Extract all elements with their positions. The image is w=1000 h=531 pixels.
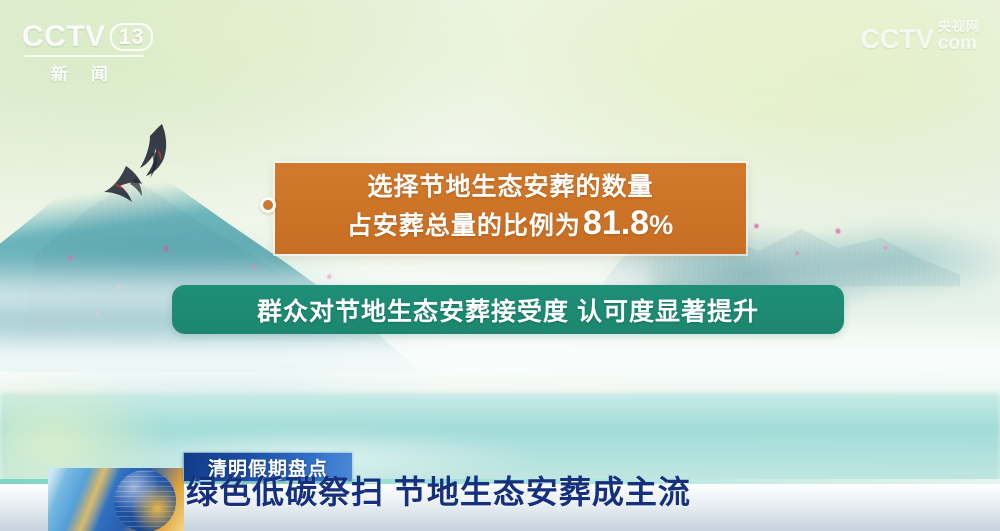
statement-banner-text: 群众对节地生态安葬接受度 认可度显著提升 xyxy=(257,292,759,328)
logo-divider xyxy=(24,55,144,57)
statistic-line-2-prefix: 占安葬总量的比例为 xyxy=(347,212,581,241)
statement-banner: 群众对节地生态安葬接受度 认可度显著提升 xyxy=(172,285,844,334)
swallows-icon xyxy=(96,112,224,220)
cctv13-news-logo: CCTV 13 新 闻 xyxy=(22,22,172,78)
watermark-cctv-text: CCTV xyxy=(860,26,934,53)
logo-top-row: CCTV 13 xyxy=(22,22,172,52)
broadcast-frame: CCTV 13 新 闻 CCTV 央视网 com 选择节地生态安葬的数量 占安葬… xyxy=(0,0,1000,531)
lower-third: 清明假期盘点 绿色低碳祭扫 节地生态安葬成主流 xyxy=(0,448,1000,531)
watermark-com-text: com xyxy=(938,34,980,53)
watermark-side: 央视网 com xyxy=(938,20,980,53)
statistic-line-2: 占安葬总量的比例为 81.8 % xyxy=(347,204,674,243)
light-streak xyxy=(48,468,129,531)
banner-bullet-dot-icon xyxy=(260,197,276,213)
globe-decoration xyxy=(48,468,184,531)
statistic-line-1: 选择节地生态安葬的数量 xyxy=(367,173,653,202)
statistic-unit: % xyxy=(649,210,674,241)
logo-cctv-text: CCTV xyxy=(22,22,106,52)
headline-title: 绿色低碳祭扫 节地生态安葬成主流 xyxy=(186,467,691,513)
cctv-com-watermark: CCTV 央视网 com xyxy=(860,20,980,53)
statistic-banner: 选择节地生态安葬的数量 占安葬总量的比例为 81.8 % xyxy=(275,163,746,254)
logo-subtitle: 新 闻 xyxy=(22,60,146,85)
watermark-chinese-text: 央视网 xyxy=(938,20,980,33)
statistic-value: 81.8 xyxy=(583,204,649,243)
logo-channel-number: 13 xyxy=(110,23,153,51)
